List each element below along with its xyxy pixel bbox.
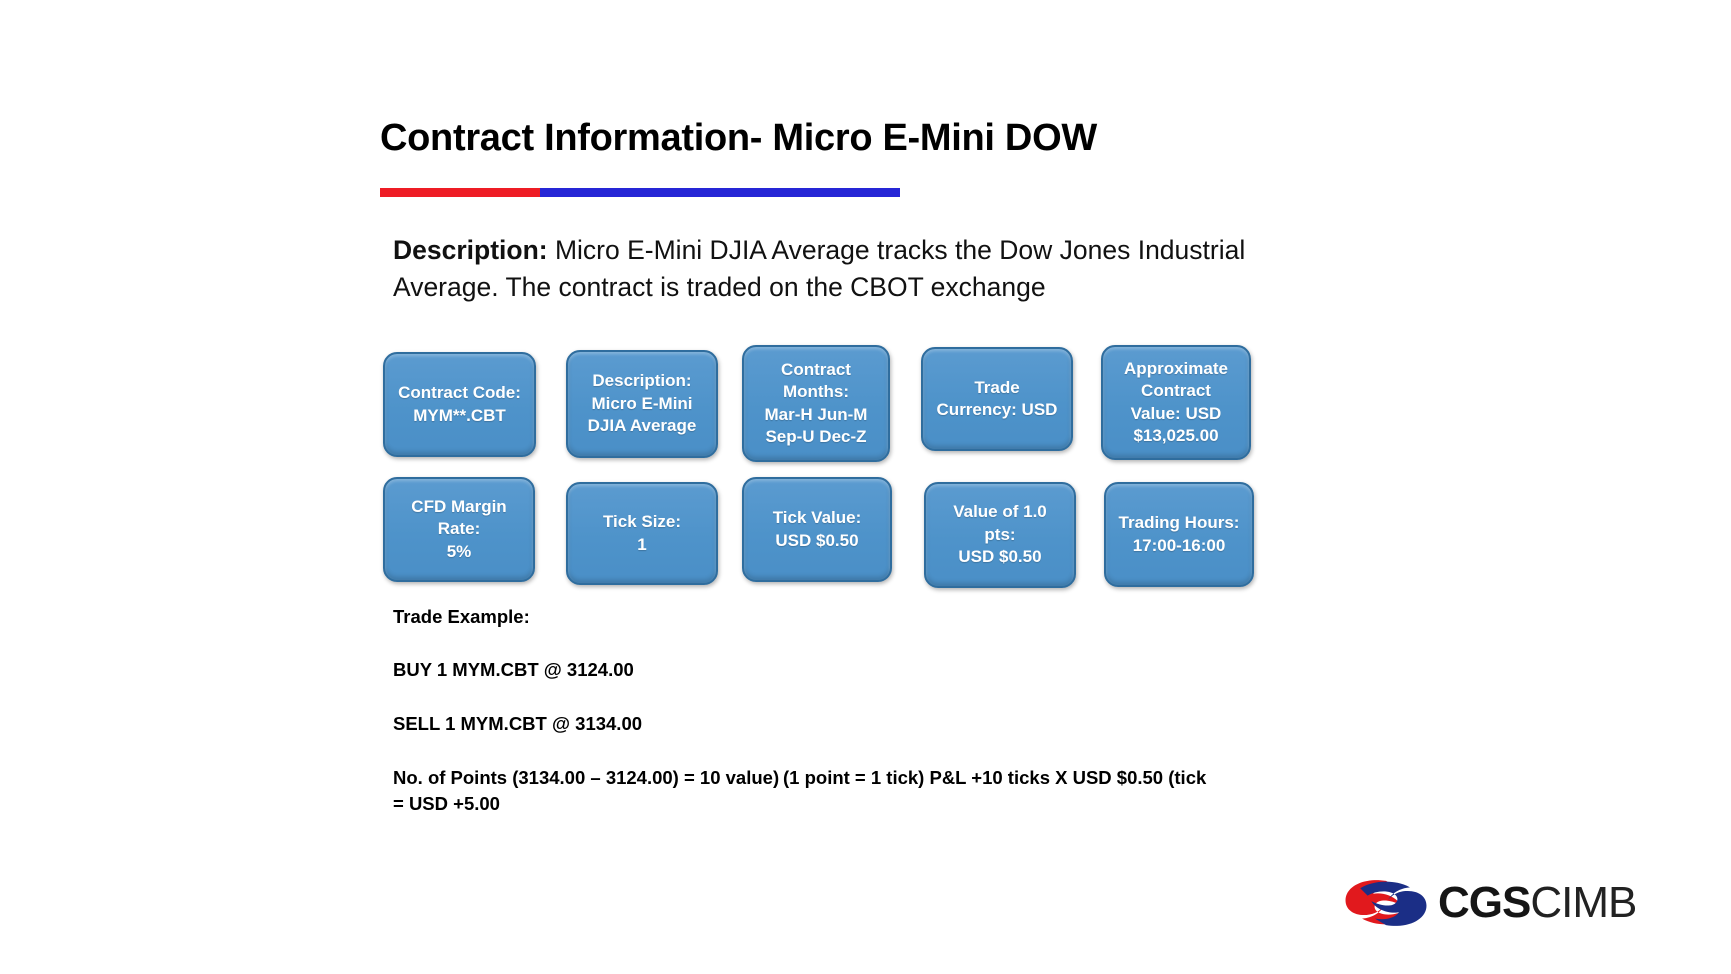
spec-box-value-of-one-point: Value of 1.0 pts: USD $0.50 (924, 482, 1076, 588)
spec-box-contract-code: Contract Code: MYM**.CBT (383, 352, 536, 457)
trade-example-calculation-row: No. of Points (3134.00 – 3124.00) = 10 v… (393, 765, 1393, 816)
spec-box-contract-months-text: Contract Months: Mar-H Jun-M Sep-U Dec-Z (752, 359, 880, 449)
title-block: Contract Information- Micro E-Mini DOW (380, 118, 1280, 160)
spec-box-tick-size: Tick Size: 1 (566, 482, 718, 585)
spec-box-contract-code-text: Contract Code: MYM**.CBT (393, 382, 526, 427)
spec-box-approximate-contract-value-text: Approximate Contract Value: USD $13,025.… (1111, 358, 1241, 448)
trade-example-calculation-right: (1 point = 1 tick) P&L +10 ticks X USD $… (783, 765, 1393, 791)
slide-canvas: Contract Information- Micro E-Mini DOW D… (0, 0, 1731, 974)
spec-box-cfd-margin-rate: CFD Margin Rate: 5% (383, 477, 535, 582)
title-underline-rule (380, 188, 900, 197)
trade-example-heading: Trade Example: (393, 605, 1393, 629)
description-paragraph: Description: Micro E-Mini DJIA Average t… (393, 232, 1348, 305)
spec-box-contract-months: Contract Months: Mar-H Jun-M Sep-U Dec-Z (742, 345, 890, 462)
logo-primary-text: CGS (1438, 878, 1530, 927)
spec-box-value-of-one-point-text: Value of 1.0 pts: USD $0.50 (934, 501, 1066, 568)
title-rule-blue-segment (540, 188, 900, 197)
spec-box-description-text: Description: Micro E-Mini DJIA Average (576, 370, 708, 437)
spec-box-cfd-margin-rate-text: CFD Margin Rate: 5% (393, 496, 525, 563)
spec-box-tick-size-text: Tick Size: 1 (576, 511, 708, 556)
cgs-cimb-logo-mark-icon (1340, 875, 1432, 931)
cgs-cimb-logo-text: CGSCIMB (1438, 881, 1636, 925)
title-rule-red-segment (380, 188, 540, 197)
spec-box-trade-currency-text: Trade Currency: USD (931, 377, 1063, 422)
spec-box-trading-hours-text: Trading Hours: 17:00-16:00 (1114, 512, 1244, 557)
spec-box-trade-currency: Trade Currency: USD (921, 347, 1073, 451)
page-title: Contract Information- Micro E-Mini DOW (380, 118, 1280, 160)
trade-example-sell-line: SELL 1 MYM.CBT @ 3134.00 (393, 712, 1393, 736)
description-label: Description: (393, 235, 548, 265)
spec-box-trading-hours: Trading Hours: 17:00-16:00 (1104, 482, 1254, 587)
cgs-cimb-logo: CGSCIMB (1340, 872, 1660, 934)
spec-box-description: Description: Micro E-Mini DJIA Average (566, 350, 718, 458)
trade-example-block: Trade Example: BUY 1 MYM.CBT @ 3124.00 S… (393, 605, 1393, 816)
spec-box-approximate-contract-value: Approximate Contract Value: USD $13,025.… (1101, 345, 1251, 460)
logo-secondary-text: CIMB (1530, 878, 1636, 927)
spec-box-tick-value-text: Tick Value: USD $0.50 (752, 507, 882, 552)
trade-example-buy-line: BUY 1 MYM.CBT @ 3124.00 (393, 658, 1393, 682)
trade-example-calculation-left: No. of Points (3134.00 – 3124.00) = 10 v… (393, 765, 783, 816)
spec-box-tick-value: Tick Value: USD $0.50 (742, 477, 892, 582)
